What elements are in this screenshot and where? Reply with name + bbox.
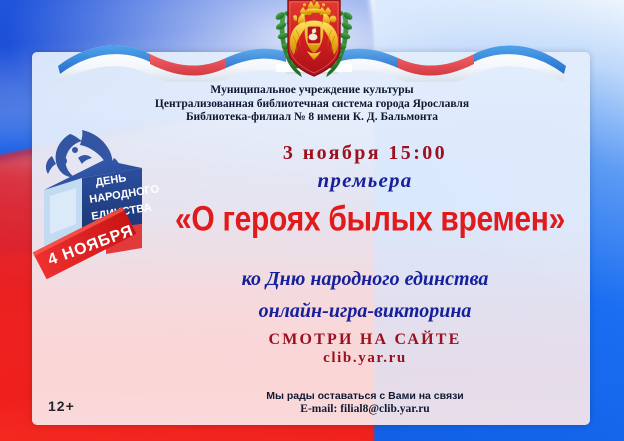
poster: Муниципальное учреждение культуры Центра… (0, 0, 624, 441)
event-subtitle: ко Дню народного единства (150, 268, 580, 291)
site-url[interactable]: clib.yar.ru (150, 350, 580, 367)
header-line-3: Библиотека-филиал № 8 имени К. Д. Бальмо… (0, 111, 624, 125)
russian-coat-of-arms (262, 0, 366, 78)
stay-in-touch-text: Мы рады оставаться с Вами на связи (150, 390, 580, 402)
contact-email[interactable]: E-mail: filial8@clib.yar.ru (150, 403, 580, 415)
organization-header: Муниципальное учреждение культуры Центра… (0, 84, 624, 125)
header-line-2: Централизованная библиотечная система го… (0, 98, 624, 112)
event-datetime: 3 ноября 15:00 (150, 142, 580, 165)
watch-on-site-label: СМОТРИ НА САЙТЕ (150, 331, 580, 349)
event-format: онлайн-игра-викторина (150, 300, 580, 323)
header-line-1: Муниципальное учреждение культуры (0, 84, 624, 98)
age-rating-badge: 12+ (48, 398, 75, 414)
event-premiere-label: премьера (150, 168, 580, 193)
event-title: «О героях былых времен» (120, 200, 620, 240)
